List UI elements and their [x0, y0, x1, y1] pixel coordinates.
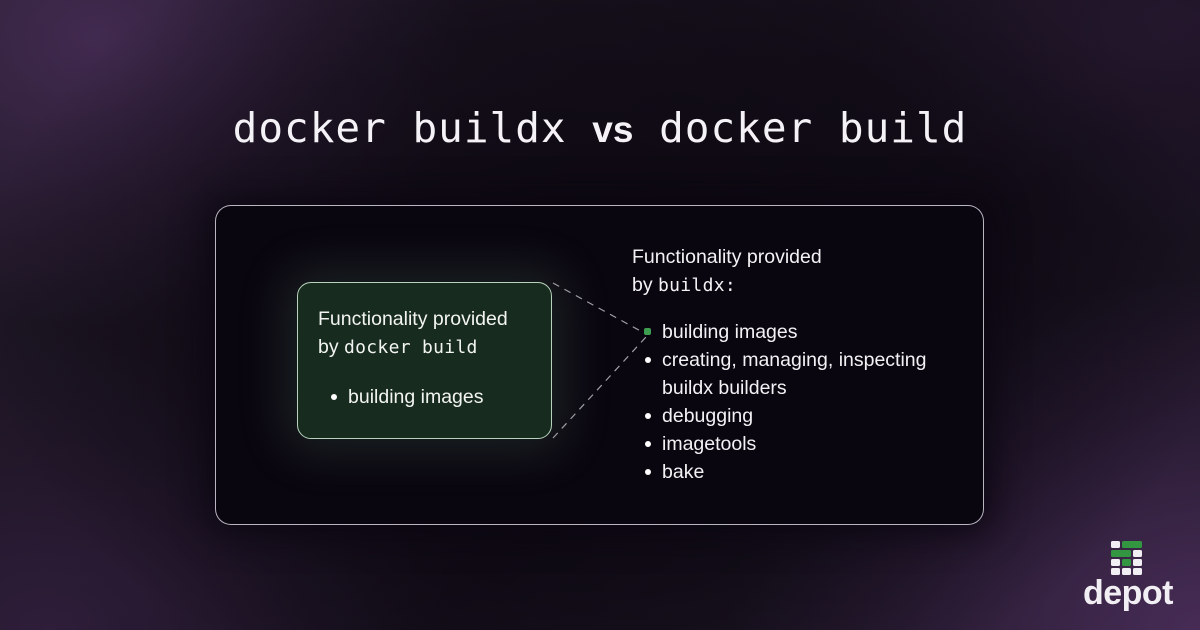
buildx-heading-line1: Functionality provided [632, 246, 822, 268]
docker-build-heading-prefix: by [318, 336, 344, 358]
docker-build-box: Functionality providedby docker build bu… [297, 282, 552, 439]
depot-grid-icon [1109, 540, 1146, 577]
list-item-label: building images [662, 321, 798, 343]
list-item: building images [662, 318, 942, 346]
title-command-buildx: docker buildx [233, 104, 567, 152]
title-command-build: docker build [659, 104, 967, 152]
list-item: imagetools [662, 430, 942, 458]
list-item: building images [348, 384, 531, 410]
page-title: docker buildx vs docker build [0, 100, 1200, 158]
buildx-feature-list: building images creating, managing, insp… [632, 318, 942, 486]
comparison-card: Functionality providedby docker build bu… [215, 205, 984, 525]
docker-build-heading: Functionality providedby docker build [318, 305, 531, 362]
list-item-label: imagetools [662, 433, 756, 455]
bullet-icon-highlighted [644, 328, 651, 335]
buildx-heading: Functionality providedby buildx: [632, 243, 942, 300]
list-item-label: bake [662, 461, 704, 483]
docker-build-feature-list: building images [318, 384, 531, 410]
bullet-icon [645, 469, 651, 475]
depot-wordmark: depot [1082, 576, 1174, 610]
bullet-icon [645, 413, 651, 419]
bullet-icon [645, 357, 651, 363]
title-vs: vs [592, 109, 633, 150]
list-item-label: building images [348, 386, 484, 408]
slide-canvas: docker buildx vs docker build Functional… [0, 0, 1200, 630]
buildx-column: Functionality providedby buildx: buildin… [632, 243, 942, 486]
buildx-heading-prefix: by [632, 274, 658, 296]
bullet-icon [331, 394, 337, 400]
depot-logo: depot [1082, 540, 1174, 602]
bullet-icon [645, 441, 651, 447]
docker-build-heading-code: docker build [344, 337, 478, 358]
list-item-label: creating, managing, inspecting buildx bu… [662, 349, 927, 399]
list-item: bake [662, 458, 942, 486]
list-item-label: debugging [662, 405, 753, 427]
docker-build-heading-line1: Functionality provided [318, 308, 508, 330]
buildx-heading-code: buildx: [658, 275, 736, 296]
list-item: creating, managing, inspecting buildx bu… [662, 346, 942, 402]
list-item: debugging [662, 402, 942, 430]
